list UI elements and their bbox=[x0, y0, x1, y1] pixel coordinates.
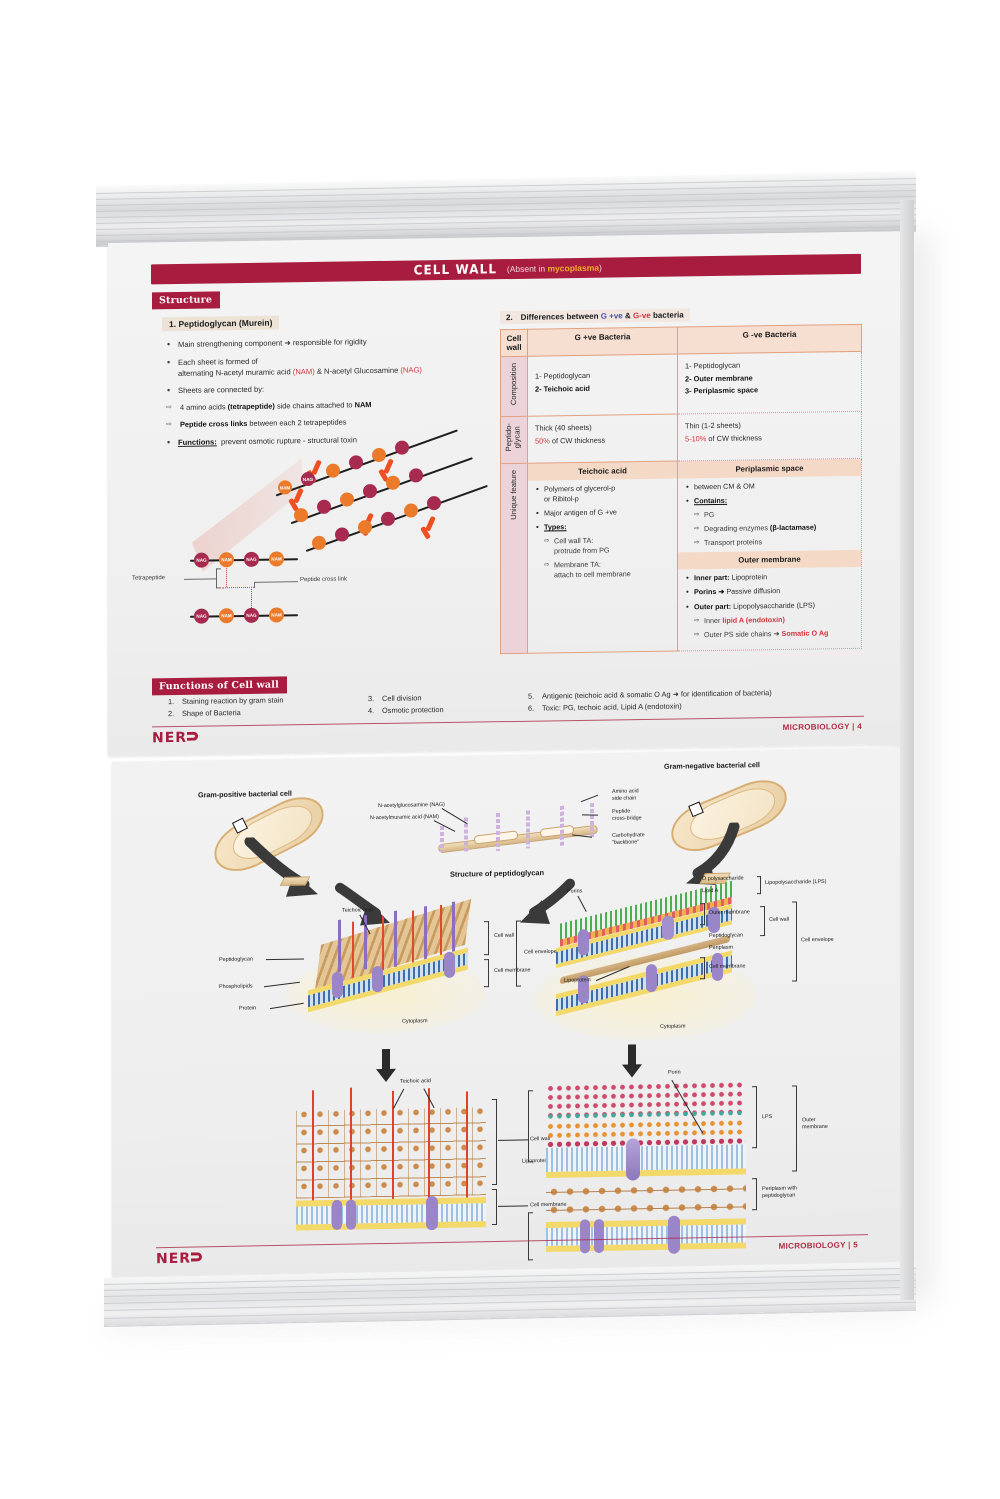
gn-bracket-cell-wall bbox=[760, 906, 765, 936]
subhead-outer-membrane: Outer membrane bbox=[678, 550, 861, 570]
gp-sheet-chip bbox=[280, 876, 311, 886]
detail-row2-nam1: NAM bbox=[219, 608, 234, 623]
gn-detail-bracket-periplasm bbox=[752, 1178, 757, 1210]
function-item-3: 3.Cell division bbox=[368, 692, 528, 703]
subsection-peptidoglycan: 1. Peptidoglycan (Murein) bbox=[162, 315, 279, 331]
gp-detail-bracket-cell-wall bbox=[492, 1099, 497, 1185]
nerd-logo-p4: NER bbox=[152, 730, 198, 747]
gn-bracket-cell-membrane bbox=[700, 957, 705, 979]
gn-label-lipid-a: Lipid A bbox=[702, 888, 718, 895]
function-item-1: 1.Staining reaction by gram stain bbox=[168, 694, 368, 706]
gn-label-lps: Lipopolysaccharide (LPS) bbox=[765, 879, 826, 887]
sugar-c3-1 bbox=[312, 536, 326, 550]
nerd-logo-d-icon bbox=[187, 732, 198, 741]
footer-rule-p5 bbox=[156, 1234, 868, 1248]
ps-item-enzymes: Degrading enzymes (β-lactamase) bbox=[694, 522, 854, 534]
gn-detail-label-outer-membrane: Outer membrane bbox=[802, 1117, 828, 1131]
gn-detail-bracket-left-top bbox=[528, 1090, 533, 1162]
page-4: CELL WALL (Absent in mycoplasma) Structu… bbox=[108, 231, 906, 756]
gn-detail-bracket-outer-membrane bbox=[792, 1085, 797, 1171]
cell-peptidoglycan-gn: Thin (1-2 sheets) 5-10% of CW thickness bbox=[678, 412, 862, 461]
sugar-c2-3 bbox=[340, 492, 354, 506]
page-number-p4: MICROBIOLOGY | 4 bbox=[783, 722, 862, 732]
book-stage: CELL WALL (Absent in mycoplasma) Structu… bbox=[0, 0, 1000, 1499]
gp-detail-down-arrow-icon bbox=[374, 1049, 398, 1083]
gn-bracket-lps bbox=[757, 876, 761, 894]
gram-negative-flat-detail bbox=[540, 1080, 770, 1244]
rowlabel-composition: Composition bbox=[501, 356, 528, 417]
gp-label-cell-wall: Cell wall bbox=[494, 933, 514, 940]
ps-item-between: between CM & OM bbox=[685, 480, 854, 493]
function-item-4: 4.Osmotic protection bbox=[368, 704, 528, 715]
sugar-c1-6 bbox=[395, 441, 409, 455]
gp-label-cytoplasm: Cytoplasm bbox=[402, 1018, 427, 1025]
cell-unique-gp: Teichoic acid Polymers of glycerol-p or … bbox=[528, 461, 678, 654]
table-title: 2.Differences between G +ve & G-ve bacte… bbox=[500, 308, 690, 324]
ta-item-cellwall-ta: Cell wall TA: protrude from PG bbox=[544, 535, 670, 557]
sugar-nag-highlight: NAG bbox=[301, 472, 315, 486]
function-item-6: 6.Toxic: PG, techoic acid, Lipid A (endo… bbox=[528, 699, 862, 713]
label-tetrapeptide: Tetrapeptide bbox=[132, 575, 165, 581]
sugar-c3-5 bbox=[404, 503, 418, 517]
gp-label-cell-envelope: Cell envelope bbox=[524, 949, 557, 956]
table-row-composition: Composition 1- Peptidoglycan 2- Teichoic… bbox=[501, 351, 862, 417]
om-item-outer: Outer part: Lipopolysaccharide (LPS) bbox=[685, 599, 854, 612]
bullet-main-strength: Main strengthening component ➜ responsib… bbox=[164, 334, 487, 350]
ta-item-polymers: Polymers of glycerol-p or Ribitol-p bbox=[535, 482, 670, 504]
gp-label-peptidoglycan: Peptidoglycan bbox=[219, 956, 253, 963]
cell-composition-gn: 1- Peptidoglycan 2- Outer membrane 3- Pe… bbox=[678, 351, 862, 414]
tetrapeptide-leader bbox=[184, 578, 216, 579]
ta-item-types: Types: bbox=[535, 521, 670, 533]
detail-row1-nam1: NAM bbox=[219, 552, 234, 567]
om-item-porins: Porins ➜ Passive diffusion bbox=[685, 585, 854, 598]
sugar-c3-3 bbox=[358, 520, 372, 534]
label-peptide-cross-bridge: Peptide cross-bridge bbox=[612, 808, 642, 822]
sugar-c2-2 bbox=[317, 500, 331, 514]
gn-detail-label-porin: Porin bbox=[668, 1070, 681, 1077]
detail-row1-nam2: NAM bbox=[269, 551, 284, 566]
rowlabel-unique-feature: Unique feature bbox=[501, 463, 528, 654]
sugar-c1-4 bbox=[349, 455, 363, 469]
gp-detail-leader-cellwall bbox=[498, 1139, 528, 1140]
cell-peptidoglycan-gp: Thick (40 sheets) 50% of CW thickness bbox=[528, 414, 678, 463]
om-item-somatic-oag: Outer PS side chains ➜ Somatic O Ag bbox=[694, 628, 854, 640]
col-header-cellwall: Cell wall bbox=[501, 329, 528, 356]
detail-row2-nam2: NAM bbox=[269, 607, 284, 622]
gp-zoom-arrow-icon bbox=[242, 836, 332, 908]
cell-unique-gn: Periplasmic space between CM & OM Contai… bbox=[678, 458, 862, 651]
banner-title: CELL WALL bbox=[414, 262, 497, 278]
gn-label-outer-membrane: Outer membrane bbox=[709, 909, 750, 916]
gn-bracket-outer-membrane bbox=[700, 903, 705, 925]
structure-chip: Structure bbox=[152, 291, 220, 309]
sub-arrow-tetrapeptide: 4 amino acids (tetrapeptide) side chains… bbox=[166, 398, 487, 413]
title-gram-positive: Gram-positive bacterial cell bbox=[198, 789, 292, 800]
comp-gp-2: 2- Teichoic acid bbox=[535, 381, 670, 396]
gn-detail-label-lps: LPS bbox=[762, 1114, 772, 1121]
gn-label-cell-wall-gn: Cell wall bbox=[769, 917, 789, 924]
sugar-c2-1 bbox=[294, 508, 308, 522]
gn-label-cell-envelope: Cell envelope bbox=[801, 937, 834, 944]
tetrapeptide-chain-lower bbox=[251, 589, 252, 608]
nam-abbrev: (NAM) bbox=[293, 367, 315, 376]
sugar-c3-2 bbox=[335, 527, 349, 541]
peptidoglycan-structure-diagram bbox=[412, 792, 642, 864]
table-row-peptidoglycan: Peptido- glycan Thick (40 sheets) 50% of… bbox=[501, 412, 862, 464]
gn-bracket-cell-envelope bbox=[792, 901, 797, 981]
tetrapeptide-chain-upper bbox=[226, 568, 227, 587]
tetrapeptide-bracket bbox=[216, 568, 221, 588]
nerd-logo-d-icon-p5 bbox=[191, 1252, 202, 1261]
sugar-c1-3 bbox=[326, 464, 340, 478]
crosslink-leader-vert bbox=[254, 582, 255, 588]
gp-bracket-cell-wall bbox=[484, 921, 489, 955]
detail-row1-nag2: NAG bbox=[244, 552, 259, 567]
label-nag: N-acetylglucosamine (NAG) bbox=[378, 802, 445, 810]
gn-label-periplasm: Periplasm bbox=[709, 945, 733, 952]
subhead-teichoic-acid: Teichoic acid bbox=[528, 461, 677, 480]
ps-item-pg: PG bbox=[694, 508, 854, 520]
bullet-sheets-connected: Sheets are connected by: bbox=[164, 380, 487, 396]
gp-label-teichoic-acid: Teichoic acid bbox=[342, 907, 373, 914]
label-amino-acid-side-chain: Amino acid side chain bbox=[612, 788, 639, 802]
detail-row2-nag1: NAG bbox=[194, 609, 209, 624]
ps-item-contains: Contains: bbox=[685, 494, 854, 507]
gn-label-porins: Porins bbox=[567, 888, 582, 895]
nag-abbrev: (NAG) bbox=[400, 365, 422, 374]
pg-gp-2: 50% of CW thickness bbox=[535, 433, 670, 448]
gp-label-cell-membrane: Cell membrane bbox=[494, 967, 531, 974]
gn-label-peptidoglycan-gn: Peptidoglycan bbox=[709, 932, 743, 939]
gn-detail-label-periplasm: Periplasm with peptidoglycan bbox=[762, 1185, 797, 1199]
crosslink-leader bbox=[254, 581, 298, 582]
sugar-c3-4 bbox=[381, 512, 395, 526]
label-carbohydrate-backbone: Carbohydrate "backbone" bbox=[612, 832, 645, 846]
gn-label-lipoprotein: Lipoprotein bbox=[564, 977, 591, 984]
page-5: Gram-positive bacterial cell Gram-negati… bbox=[112, 748, 902, 1277]
gp-detail-bracket-cell-membrane bbox=[492, 1189, 497, 1225]
gn-label-cell-membrane-gn: Cell membrane bbox=[709, 963, 746, 970]
gn-detail-bracket-left-bottom bbox=[528, 1212, 533, 1260]
peptidoglycan-figure: NAM NAG bbox=[128, 433, 488, 638]
ta-item-antigen: Major antigen of G +ve bbox=[535, 507, 670, 519]
sugar-c3-6 bbox=[427, 496, 441, 510]
col-header-gram-positive: G +ve Bacteria bbox=[528, 327, 678, 356]
gram-positive-envelope-3d bbox=[294, 917, 484, 1028]
table-row-unique-feature: Unique feature Teichoic acid Polymers of… bbox=[501, 458, 862, 654]
gram-positive-flat-detail bbox=[288, 1093, 508, 1237]
om-item-inner: Inner part: Lipoprotein bbox=[685, 571, 854, 584]
gp-detail-label-teichoic: Teichoic acid bbox=[400, 1078, 431, 1085]
sugar-c2-4 bbox=[363, 484, 377, 498]
gp-label-protein: Protein bbox=[239, 1005, 256, 1012]
detail-row2-nag2: NAG bbox=[244, 608, 259, 623]
cell-wall-banner: CELL WALL (Absent in mycoplasma) bbox=[151, 254, 861, 285]
banner-note: (Absent in mycoplasma) bbox=[507, 263, 602, 274]
gn-detail-bracket-lps bbox=[752, 1086, 757, 1148]
sub-arrow-crosslinks: Peptide cross links between each 2 tetra… bbox=[166, 415, 487, 430]
subhead-periplasmic-space: Periplasmic space bbox=[678, 458, 861, 478]
nerd-logo-p5: NER bbox=[156, 1250, 202, 1267]
col-header-gram-negative: G -ve Bacteria bbox=[678, 324, 862, 354]
gn-detail-down-arrow-icon bbox=[620, 1044, 644, 1078]
rowlabel-peptidoglycan: Peptido- glycan bbox=[501, 416, 528, 463]
ta-item-membrane-ta: Membrane TA: attach to cell membrane bbox=[544, 559, 670, 581]
pg-gn-2: 5-10% of CW thickness bbox=[685, 431, 854, 446]
book-right-edge bbox=[900, 200, 914, 1300]
label-peptide-cross-link: Peptide cross link bbox=[300, 576, 347, 583]
cell-composition-gp: 1- Peptidoglycan 2- Teichoic acid bbox=[528, 354, 678, 416]
crosslink-dotted-horizontal bbox=[222, 587, 254, 588]
label-nam: N-acetylmuramic acid (NAM) bbox=[370, 814, 439, 822]
comparison-table-wrap: 2.Differences between G +ve & G-ve bacte… bbox=[500, 302, 862, 654]
sugar-c1-5 bbox=[372, 448, 386, 462]
comp-gn-3: 3- Periplasmic space bbox=[685, 383, 854, 398]
gn-label-cytoplasm: Cytoplasm bbox=[660, 1023, 685, 1030]
title-gram-negative: Gram-negative bacterial cell bbox=[664, 760, 760, 771]
gp-label-phospholipids: Phospholipids bbox=[219, 983, 253, 990]
chain-top-3 bbox=[306, 485, 488, 552]
gp-envelope-bracket-left bbox=[516, 921, 521, 987]
sugar-c2-5 bbox=[386, 476, 400, 490]
function-item-2: 2.Shape of Bacteria bbox=[168, 706, 368, 718]
page-number-p5: MICROBIOLOGY | 5 bbox=[779, 1240, 858, 1250]
gn-label-o-polysaccharide: O polysaccharide bbox=[702, 875, 744, 883]
sugar-c2-6 bbox=[409, 468, 423, 482]
gp-detail-leader-cellmem bbox=[498, 1205, 528, 1206]
om-item-lipid-a: Inner lipid A (endotoxin) bbox=[694, 614, 854, 626]
gp-bracket-cell-membrane bbox=[484, 959, 489, 987]
gram-comparison-table: Cell wall G +ve Bacteria G -ve Bacteria … bbox=[500, 324, 862, 654]
ps-item-transport: Transport proteins bbox=[694, 536, 854, 548]
